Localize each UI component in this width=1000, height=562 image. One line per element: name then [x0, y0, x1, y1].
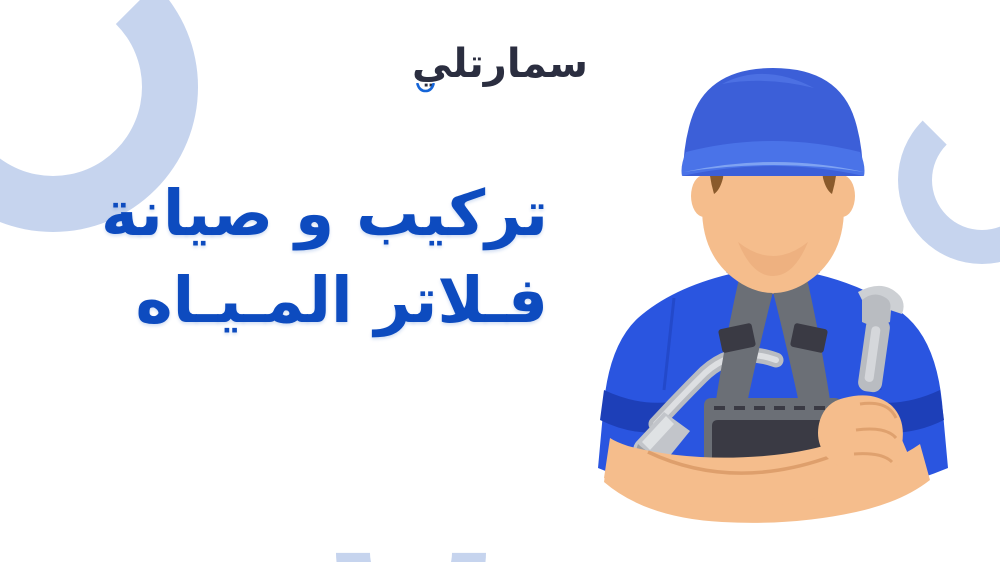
- banner-canvas: سمارتلي تركيب و صيانة فـلاتر المـيـاه: [0, 0, 1000, 562]
- headline: تركيب و صيانة فـلاتر المـيـاه: [101, 182, 548, 332]
- plumber-technician-illustration: [562, 60, 982, 530]
- logo-smile-accent-icon: [416, 83, 435, 93]
- decor-arc-bottom-icon: [305, 447, 517, 562]
- headline-line-1: تركيب و صيانة: [101, 182, 548, 245]
- headline-line-2: فـلاتر المـيـاه: [101, 269, 548, 332]
- hand-fist-icon: [818, 395, 903, 470]
